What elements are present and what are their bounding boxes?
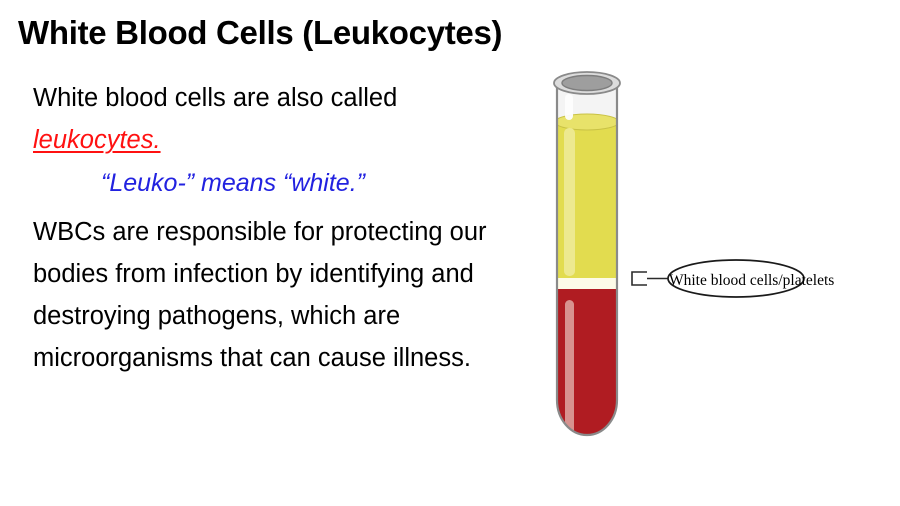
red-layer-highlight (565, 300, 574, 435)
body-text-block: White blood cells are also called leukoc… (33, 77, 503, 379)
wbc-function-paragraph: WBCs are responsible for protecting our … (33, 211, 493, 379)
callout-label: White blood cells/platelets (669, 272, 834, 290)
slide-canvas: White Blood Cells (Leukocytes) White blo… (0, 0, 900, 506)
definition-line: “Leuko-” means “white.” (101, 169, 503, 198)
leukocytes-term: leukocytes. (33, 126, 161, 154)
tube-contents (555, 114, 619, 448)
tube-rim-opening (562, 76, 612, 91)
buffy-coat-meniscus (555, 277, 619, 290)
intro-line: White blood cells are also called (33, 77, 503, 119)
blood-tube-diagram (540, 60, 900, 460)
callout-bracket-icon (632, 272, 647, 285)
emphasis-line: leukocytes. (33, 119, 503, 161)
blood-tube-svg (540, 60, 900, 460)
plasma-highlight (564, 128, 575, 276)
page-title: White Blood Cells (Leukocytes) (18, 14, 502, 52)
glass-highlight (565, 94, 573, 120)
